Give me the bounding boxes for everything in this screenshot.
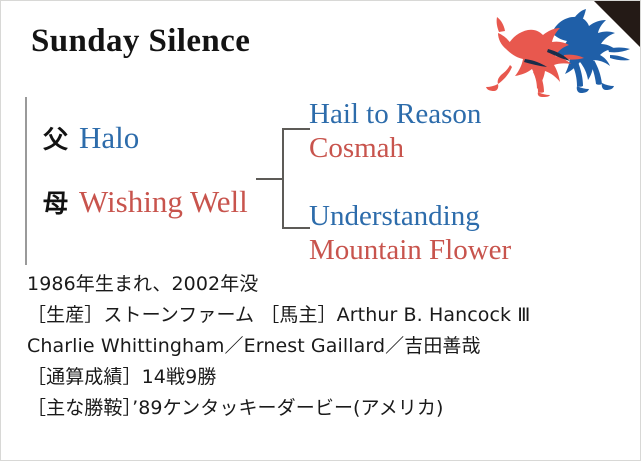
sire-name: Halo [79, 121, 139, 155]
bracket-middle-stub [256, 178, 284, 180]
sire-label-kanji: 父 [43, 125, 68, 155]
bracket-top-arm [282, 128, 310, 130]
pedigree-left-rule [25, 97, 27, 265]
detail-line-career-record: ［通算成績］14戦9勝 [27, 362, 627, 393]
dam-name: Wishing Well [79, 185, 248, 219]
page-title: Sunday Silence [31, 21, 250, 61]
pedigree-section: 父 Halo 母 Wishing Well Hail to Reason Cos… [1, 95, 641, 267]
sire-row: 父 Halo [43, 121, 139, 155]
parents-column: 父 Halo 母 Wishing Well [43, 95, 273, 265]
detail-line-trainers: Charlie Whittingham／Ernest Gaillard／吉田善哉 [27, 331, 627, 362]
detail-line-birth-death: 1986年生まれ、2002年没 [27, 269, 627, 300]
leaping-horses-logo-icon [482, 5, 632, 97]
grandparent-name-3: Understanding [309, 201, 480, 232]
pedigree-bracket-connector [256, 95, 316, 265]
dam-row: 母 Wishing Well [43, 185, 248, 219]
details-section: 1986年生まれ、2002年没 ［生産］ストーンファーム ［馬主］Arthur … [27, 269, 627, 424]
detail-line-breeder-owner: ［生産］ストーンファーム ［馬主］Arthur B. Hancock Ⅲ [27, 300, 627, 331]
grandparent-name-2: Cosmah [309, 133, 404, 164]
grandparent-name-4: Mountain Flower [309, 235, 511, 266]
grandparents-column: Hail to Reason Cosmah Understanding Moun… [309, 95, 629, 267]
horse-profile-card: Sunday Silence [0, 0, 641, 461]
dam-label-kanji: 母 [43, 189, 68, 219]
card-header: Sunday Silence [1, 1, 641, 93]
bracket-bottom-arm [282, 227, 310, 229]
detail-line-major-wins: ［主な勝鞍］’89ケンタッキーダービー(アメリカ) [27, 393, 627, 424]
grandparent-name-1: Hail to Reason [309, 99, 481, 130]
